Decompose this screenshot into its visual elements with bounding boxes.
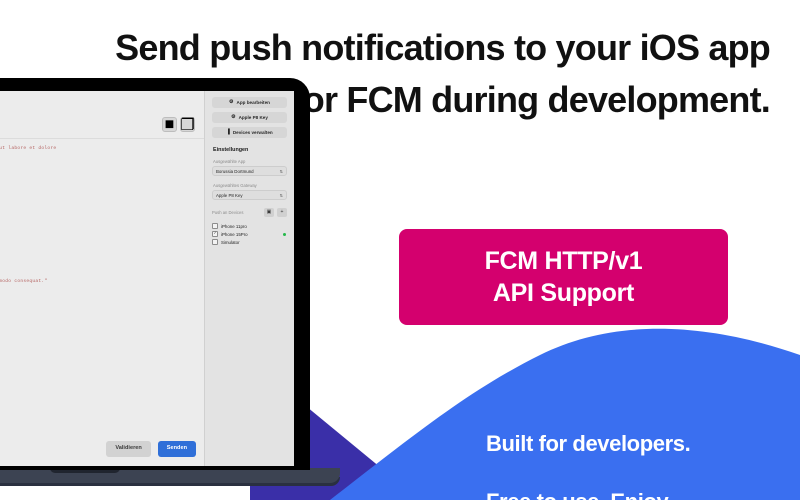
copy-icon[interactable]: ❐ xyxy=(180,117,195,132)
push-devices-label: Push an Devices xyxy=(212,210,243,215)
app-sidebar: ⚙ App bearbeiten ⚙ Apple P8 Key ▐ Device… xyxy=(204,91,294,466)
selected-gateway-select[interactable]: Apple P8 Key ⇅ xyxy=(212,190,287,200)
device-name: Simulator xyxy=(221,240,287,245)
list-item[interactable]: Simulator xyxy=(212,238,287,246)
editor-line: ing elit, sed do eiusmod tempor incididu… xyxy=(0,145,200,154)
push-devices-header: Push an Devices ▣ + xyxy=(212,208,287,217)
feature-badge-line1: FCM HTTP/v1 xyxy=(485,245,643,277)
chevron-updown-icon: ⇅ xyxy=(280,169,283,174)
device-name: iPhone 11pro xyxy=(221,224,287,229)
list-item[interactable]: iPhone 11pro xyxy=(212,222,287,230)
selected-app-select[interactable]: Borussia Dortmund ⇅ xyxy=(212,166,287,176)
editor-spacer xyxy=(0,154,200,278)
payload-editor[interactable]: ing elit, sed do eiusmod tempor incididu… xyxy=(0,139,204,432)
app-footer: Validieren Senden xyxy=(0,432,204,466)
device-checkbox[interactable] xyxy=(212,239,218,245)
manage-devices-button[interactable]: ▐ Devices verwalten xyxy=(212,127,287,138)
manage-devices-label: Devices verwalten xyxy=(233,130,273,135)
tagline-line2: Free to use. Enjoy. xyxy=(486,487,776,500)
feature-badge-line2: API Support xyxy=(493,277,634,309)
device-checkbox[interactable]: ✓ xyxy=(212,231,218,237)
push-devices-tools: ▣ + xyxy=(264,208,287,217)
selected-gateway-value: Apple P8 Key xyxy=(216,193,243,198)
laptop-screen: ■ ❐ ing elit, sed do eiusmod tempor inci… xyxy=(0,91,294,466)
copy-icon-glyph: ❐ xyxy=(180,115,194,135)
selected-gateway-label: Ausgewähltes Gateway xyxy=(213,183,287,188)
promo-banner: Send push notifications to your iOS app … xyxy=(0,0,800,500)
edit-app-label: App bearbeiten xyxy=(237,100,270,105)
list-item[interactable]: ✓ iPhone 15Pro xyxy=(212,230,287,238)
selected-app-value: Borussia Dortmund xyxy=(216,169,254,174)
phone-icon: ▐ xyxy=(226,130,230,135)
edit-app-button[interactable]: ⚙ App bearbeiten xyxy=(212,97,287,108)
validate-button[interactable]: Validieren xyxy=(106,441,150,457)
list-view-icon[interactable]: ▣ xyxy=(264,208,274,217)
message-icon[interactable]: ■ xyxy=(162,117,177,132)
chevron-updown-icon: ⇅ xyxy=(280,193,283,198)
gear-icon: ⚙ xyxy=(229,100,233,105)
device-name: iPhone 15Pro xyxy=(221,232,280,237)
apple-p8-key-button[interactable]: ⚙ Apple P8 Key xyxy=(212,112,287,123)
settings-heading: Einstellungen xyxy=(213,147,287,153)
app-window: ■ ❐ ing elit, sed do eiusmod tempor inci… xyxy=(0,91,294,466)
apple-p8-key-label: Apple P8 Key xyxy=(239,115,268,120)
laptop-mockup: ■ ❐ ing elit, sed do eiusmod tempor inci… xyxy=(0,78,310,500)
main-toolbar: ■ ❐ xyxy=(0,91,204,139)
status-badge xyxy=(283,233,286,236)
message-icon-glyph: ■ xyxy=(165,116,175,134)
key-icon: ⚙ xyxy=(231,115,235,120)
device-checkbox[interactable] xyxy=(212,223,218,229)
laptop-lid: ■ ❐ ing elit, sed do eiusmod tempor inci… xyxy=(0,78,310,470)
app-main-column: ■ ❐ ing elit, sed do eiusmod tempor inci… xyxy=(0,91,204,466)
tagline-line1: Built for developers. xyxy=(486,429,776,458)
add-device-icon[interactable]: + xyxy=(277,208,287,217)
editor-line: n ullamco laboris nisi ut aliquip ex ea … xyxy=(0,278,200,287)
tagline: Built for developers. Free to use. Enjoy… xyxy=(486,400,776,500)
feature-badge: FCM HTTP/v1 API Support xyxy=(399,229,728,325)
selected-app-label: Ausgewählte App xyxy=(213,159,287,164)
send-button[interactable]: Senden xyxy=(158,441,196,457)
